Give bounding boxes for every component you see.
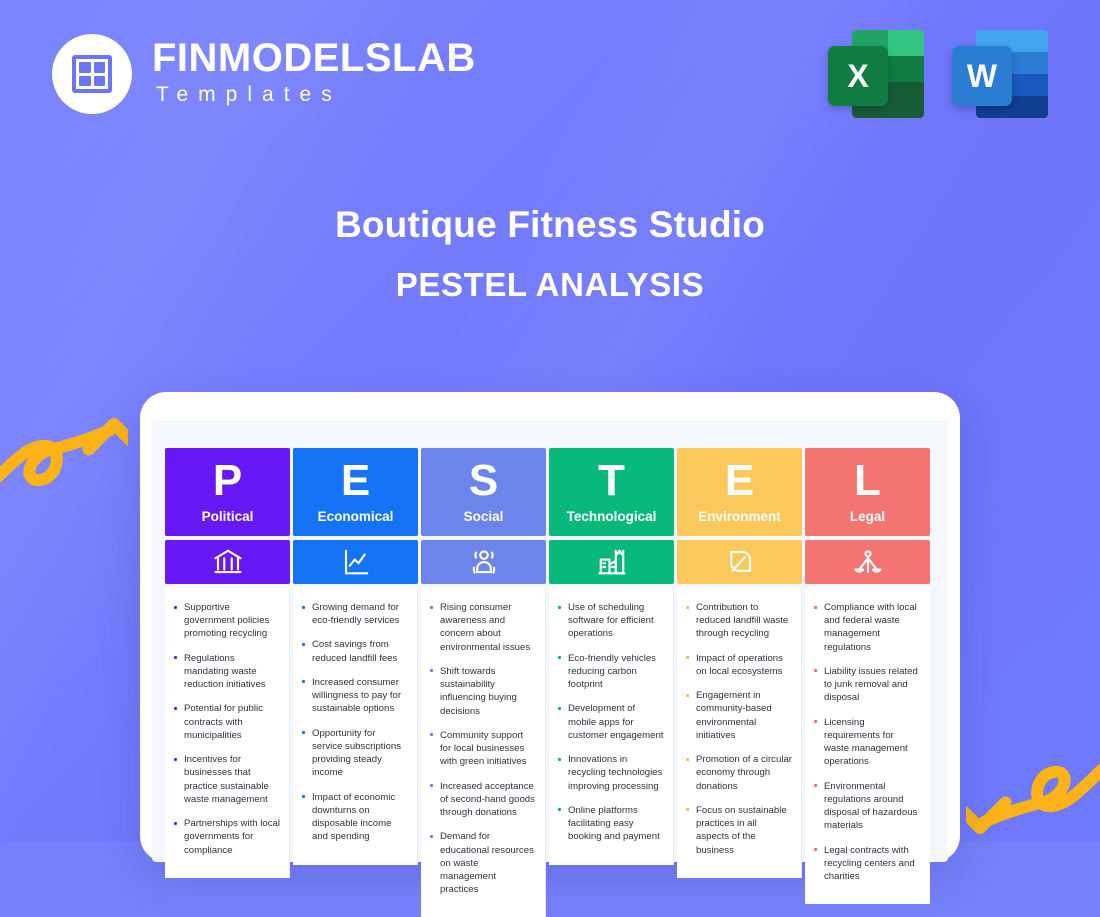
column-letter: E (725, 460, 754, 502)
column-items-political: Supportive government policies promoting… (165, 588, 290, 878)
excel-icon: X (828, 26, 924, 122)
column-items-environment: Contribution to reduced landfill waste t… (677, 588, 802, 878)
column-label: Social (464, 509, 504, 524)
brand-logo: FINMODELSLAB Templates (52, 34, 476, 114)
pestel-card: PPoliticalSupportive government policies… (140, 392, 960, 862)
list-item: Impact of operations on local ecosystems (683, 652, 792, 678)
scales-icon (805, 540, 930, 584)
column-letter: L (854, 460, 881, 502)
list-item: Engagement in community-based environmen… (683, 689, 792, 742)
list-item: Shift towards sustainability influencing… (427, 665, 536, 718)
list-item: Legal contracts with recycling centers a… (811, 844, 921, 884)
column-letter: E (341, 460, 370, 502)
line-chart-icon (293, 540, 418, 584)
list-item: Demand for educational resources on wast… (427, 830, 536, 896)
pestel-column-social: SSocialRising consumer awareness and con… (421, 448, 546, 917)
list-item: Online platforms facilitating easy booki… (555, 804, 664, 844)
column-items-legal: Compliance with local and federal waste … (805, 588, 930, 904)
list-item: Use of scheduling software for efficient… (555, 601, 664, 641)
column-label: Political (202, 509, 254, 524)
list-item: Innovations in recycling technologies im… (555, 753, 664, 793)
page-title-block: Boutique Fitness Studio PESTEL ANALYSIS (0, 204, 1100, 304)
list-item: Incentives for businesses that practice … (171, 753, 280, 806)
bank-icon (165, 540, 290, 584)
pestel-inner-panel: PPoliticalSupportive government policies… (152, 420, 948, 862)
brand-name: FINMODELSLAB (152, 37, 476, 79)
leaf-icon (677, 540, 802, 584)
pestel-table: PPoliticalSupportive government policies… (165, 448, 930, 917)
grid-icon (72, 55, 112, 93)
pestel-column-technological: TTechnologicalUse of scheduling software… (549, 448, 674, 917)
column-header-economical: EEconomical (293, 448, 418, 536)
word-icon: W (952, 26, 1048, 122)
column-letter: S (469, 460, 498, 502)
list-item: Environmental regulations around disposa… (811, 780, 921, 833)
column-header-environment: EEnvironment (677, 448, 802, 536)
list-item: Potential for public contracts with muni… (171, 702, 280, 742)
column-label: Environment (698, 509, 781, 524)
list-item: Regulations mandating waste reduction in… (171, 652, 280, 692)
list-item: Impact of economic downturns on disposab… (299, 791, 408, 844)
list-item: Opportunity for service subscriptions pr… (299, 727, 408, 780)
office-format-icons: X W (828, 26, 1048, 122)
page-title: Boutique Fitness Studio (0, 204, 1100, 246)
list-item: Cost savings from reduced landfill fees (299, 638, 408, 664)
list-item: Liability issues related to junk removal… (811, 665, 921, 705)
column-letter: P (213, 460, 242, 502)
list-item: Promotion of a circular economy through … (683, 753, 792, 793)
list-item: Focus on sustainable practices in all as… (683, 804, 792, 857)
pestel-column-economical: EEconomicalGrowing demand for eco-friend… (293, 448, 418, 917)
column-items-social: Rising consumer awareness and concern ab… (421, 588, 546, 917)
pestel-column-political: PPoliticalSupportive government policies… (165, 448, 290, 917)
list-item: Community support for local businesses w… (427, 729, 536, 769)
word-icon-letter: W (952, 46, 1012, 106)
column-header-political: PPolitical (165, 448, 290, 536)
column-header-social: SSocial (421, 448, 546, 536)
list-item: Partnerships with local governments for … (171, 817, 280, 857)
excel-icon-letter: X (828, 46, 888, 106)
logo-badge (52, 34, 132, 114)
list-item: Rising consumer awareness and concern ab… (427, 601, 536, 654)
list-item: Compliance with local and federal waste … (811, 601, 921, 654)
column-label: Technological (567, 509, 657, 524)
list-item: Licensing requirements for waste managem… (811, 716, 921, 769)
list-item: Contribution to reduced landfill waste t… (683, 601, 792, 641)
list-item: Growing demand for eco-friendly services (299, 601, 408, 627)
page-subtitle: PESTEL ANALYSIS (0, 266, 1100, 304)
people-icon (421, 540, 546, 584)
list-item: Eco-friendly vehicles reducing carbon fo… (555, 652, 664, 692)
squiggly-arrow-up-right-icon (0, 408, 128, 500)
list-item: Development of mobile apps for customer … (555, 702, 664, 742)
list-item: Increased acceptance of second-hand good… (427, 780, 536, 820)
column-label: Legal (850, 509, 885, 524)
list-item: Increased consumer willingness to pay fo… (299, 676, 408, 716)
pestel-column-environment: EEnvironmentContribution to reduced land… (677, 448, 802, 917)
pestel-column-legal: LLegalCompliance with local and federal … (805, 448, 930, 917)
squiggly-arrow-down-left-icon (966, 752, 1100, 844)
column-items-technological: Use of scheduling software for efficient… (549, 588, 674, 865)
column-label: Economical (318, 509, 394, 524)
column-items-economical: Growing demand for eco-friendly services… (293, 588, 418, 865)
brand-tagline: Templates (152, 79, 476, 111)
column-header-technological: TTechnological (549, 448, 674, 536)
factory-icon (549, 540, 674, 584)
column-header-legal: LLegal (805, 448, 930, 536)
column-letter: T (598, 460, 625, 502)
list-item: Supportive government policies promoting… (171, 601, 280, 641)
